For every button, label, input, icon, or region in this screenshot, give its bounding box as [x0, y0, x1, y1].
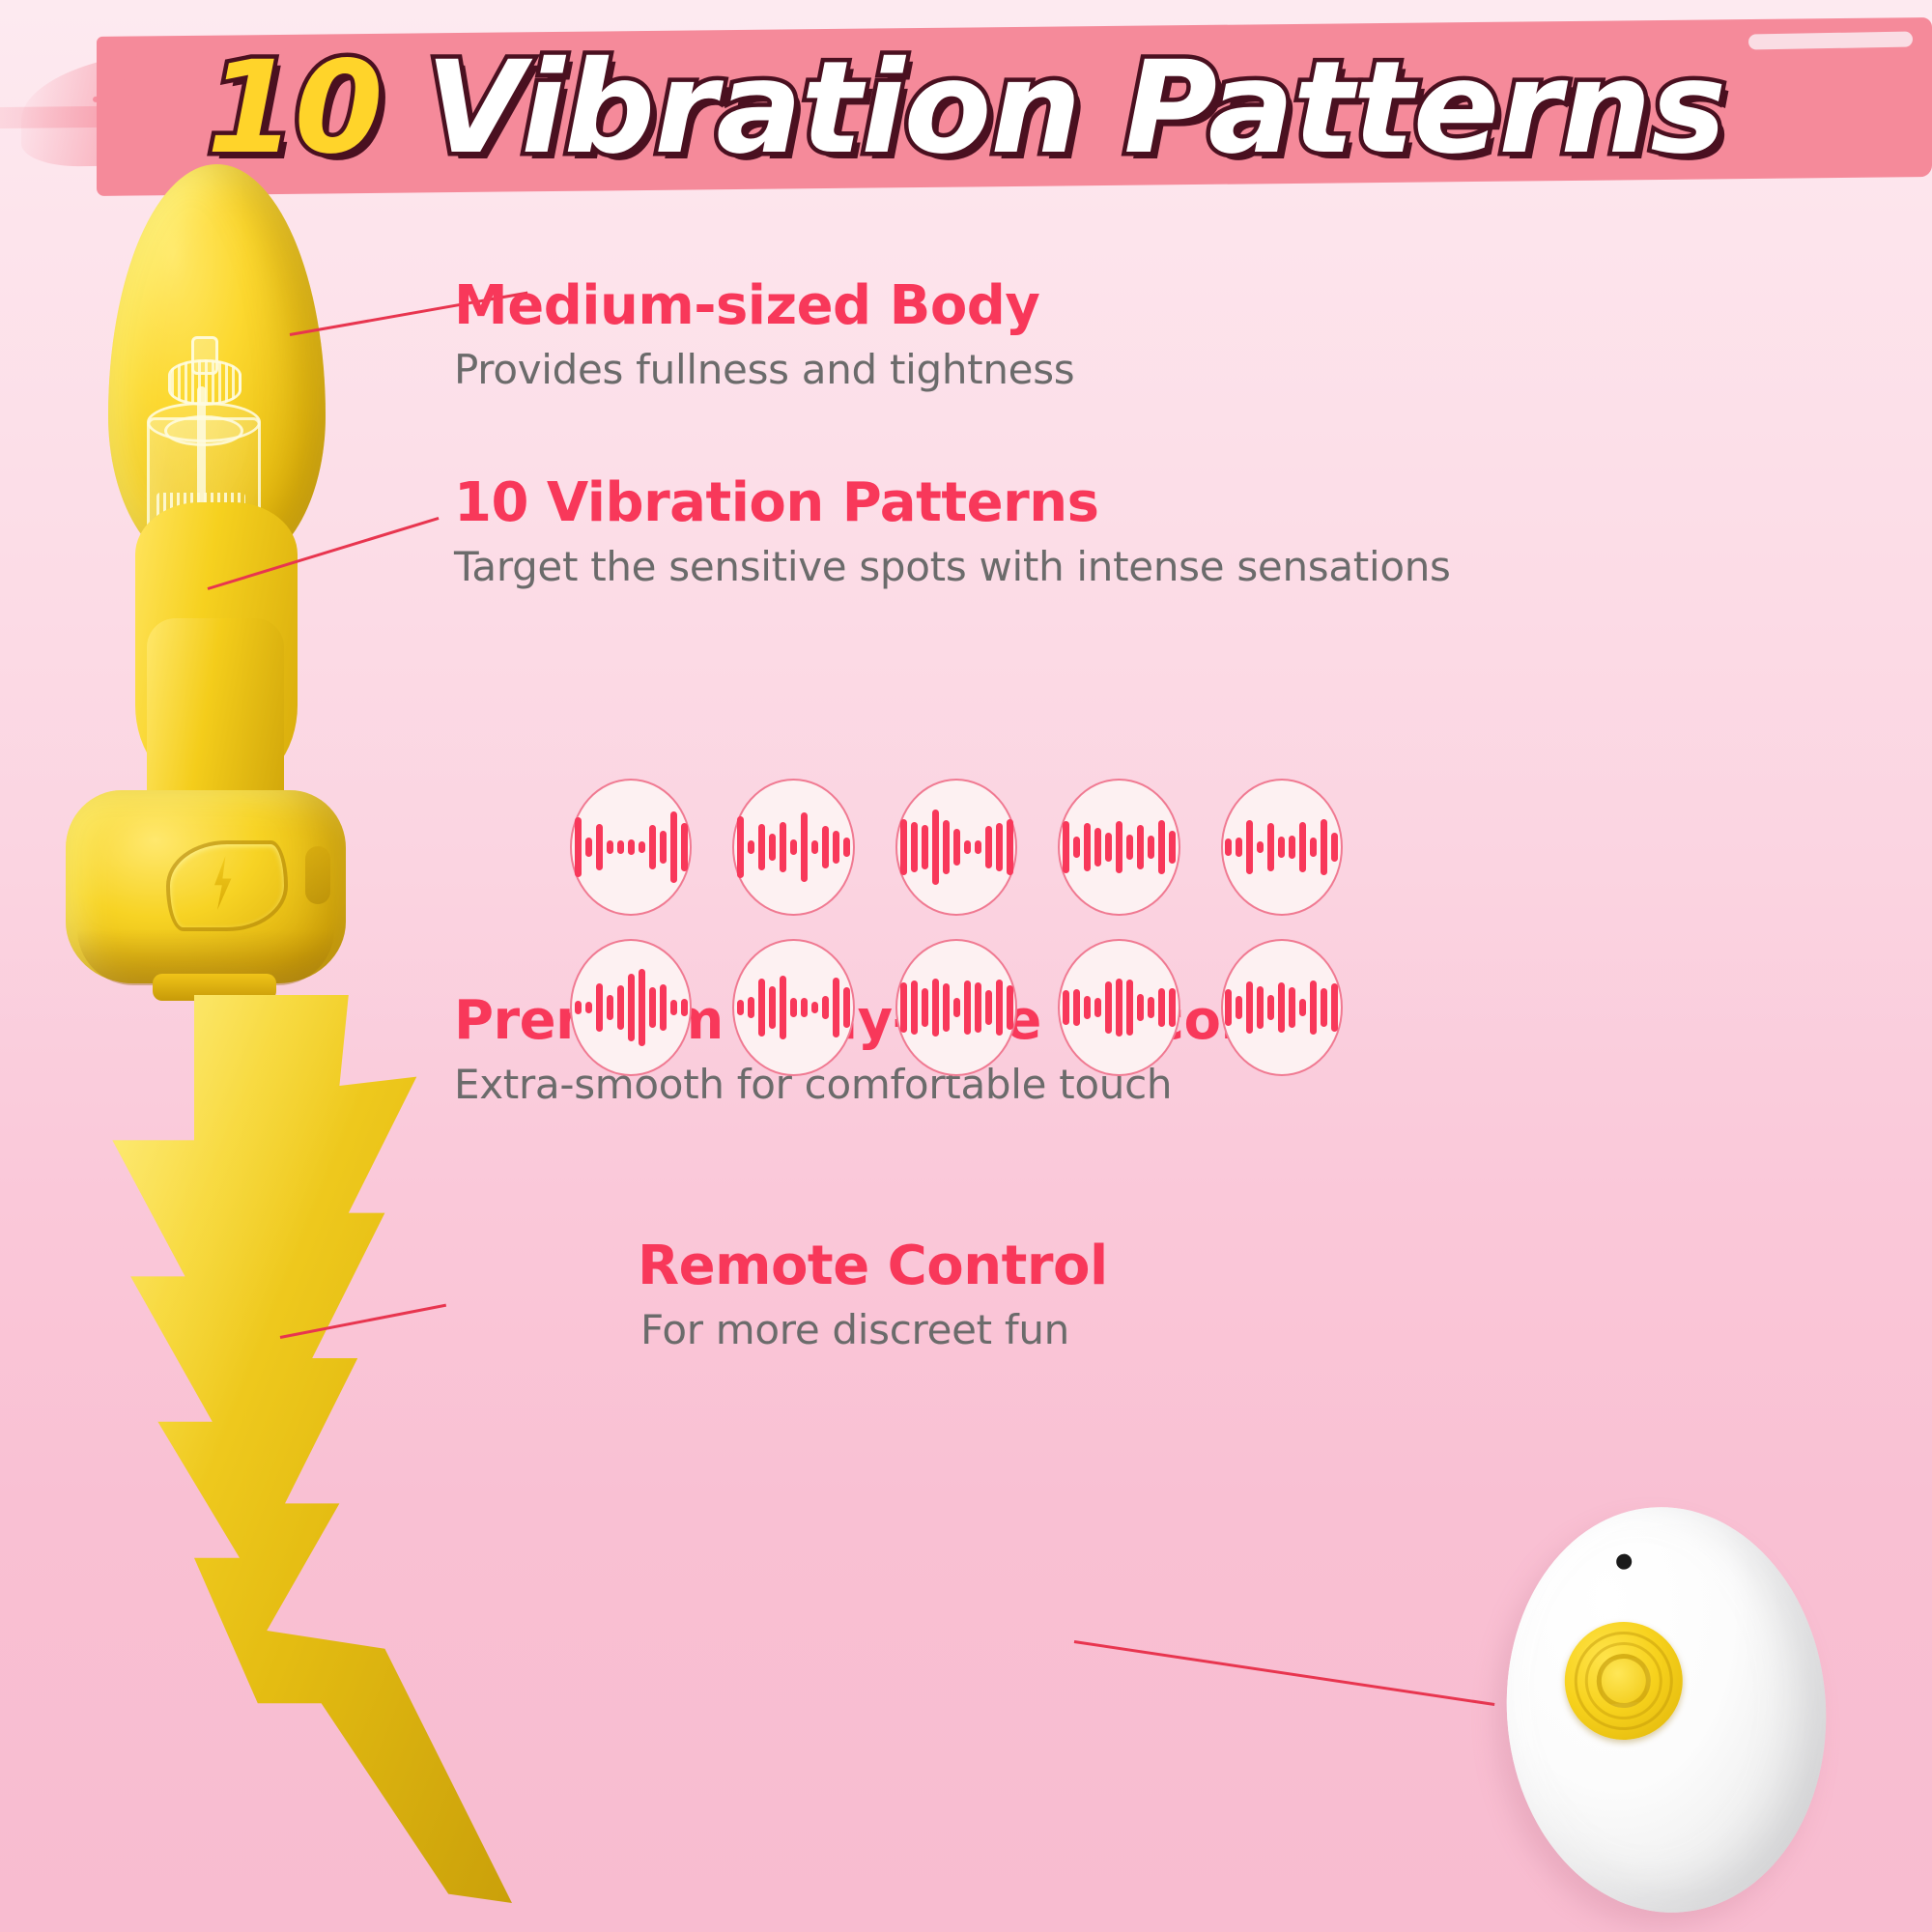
waveform-bar	[780, 976, 786, 1039]
waveform-bar	[748, 997, 754, 1018]
waveform-bar	[1278, 982, 1285, 1033]
waveform-bar	[617, 840, 624, 854]
waveform-bar	[943, 983, 950, 1032]
waveform-bar	[1246, 820, 1253, 874]
vibration-pattern-icon	[1221, 779, 1343, 916]
waveform-bar	[628, 974, 635, 1041]
vibration-pattern-icon	[895, 939, 1017, 1076]
waveform-bar	[811, 840, 818, 854]
waveform-bar	[911, 822, 918, 872]
waveform-bar	[1116, 821, 1122, 873]
waveform-bar	[1267, 823, 1274, 871]
waveform-bar	[1126, 835, 1133, 860]
waveform-bar	[790, 998, 797, 1017]
waveform-bar	[1158, 988, 1165, 1027]
waveform-bar	[1225, 989, 1232, 1026]
waveform-bar	[649, 825, 656, 869]
waveform-bar	[596, 824, 603, 870]
waveform-icon	[1063, 801, 1176, 894]
waveform-bar	[1094, 998, 1101, 1017]
waveform-bar	[790, 839, 797, 855]
waveform-bar	[1289, 987, 1295, 1028]
feature-medium-sized-body: Medium-sized Body Provides fullness and …	[454, 278, 1074, 392]
waveform-bar	[922, 825, 928, 869]
waveform-bar	[1094, 828, 1101, 867]
waveform-bar	[1257, 841, 1264, 853]
waveform-bar	[1007, 985, 1013, 1030]
waveform-bar	[780, 822, 786, 872]
waveform-bar	[769, 986, 776, 1029]
waveform-bar	[758, 979, 765, 1037]
waveform-bar	[1169, 831, 1176, 864]
vibration-pattern-row	[570, 939, 1343, 1076]
leader-line-remote	[1074, 1640, 1495, 1706]
waveform-bar	[628, 839, 635, 855]
waveform-bar	[1321, 819, 1327, 875]
waveform-bar	[1116, 979, 1122, 1037]
waveform-bar	[1236, 996, 1242, 1019]
waveform-bar	[843, 987, 850, 1028]
waveform-bar	[670, 1000, 677, 1015]
waveform-bar	[953, 829, 960, 866]
waveform-bar	[585, 1002, 592, 1013]
waveform-bar	[1158, 820, 1165, 874]
page-title: 10 Vibration Patterns	[0, 44, 1932, 172]
waveform-bar	[975, 840, 981, 854]
waveform-bar	[1007, 819, 1013, 875]
waveform-bar	[964, 980, 971, 1035]
side-button[interactable]	[305, 846, 330, 904]
waveform-bar	[1331, 983, 1338, 1032]
waveform-bar	[1278, 837, 1285, 858]
vibration-pattern-grid	[570, 779, 1343, 1117]
waveform-bar	[670, 811, 677, 883]
waveform-bar	[833, 978, 839, 1037]
waveform-bar	[639, 841, 645, 853]
waveform-bar	[639, 969, 645, 1046]
waveform-bar	[900, 819, 907, 875]
waveform-icon	[900, 961, 1013, 1054]
waveform-bar	[1073, 989, 1080, 1026]
feature-title: Remote Control	[638, 1238, 1072, 1295]
waveform-bar	[617, 985, 624, 1030]
feature-subtitle: Provides fullness and tightness	[454, 347, 1074, 392]
waveform-bar	[1267, 995, 1274, 1020]
waveform-bar	[1148, 997, 1154, 1018]
waveform-icon	[575, 801, 688, 894]
waveform-bar	[1137, 994, 1144, 1021]
waveform-bar	[953, 998, 960, 1017]
title-number: 10	[207, 34, 383, 183]
waveform-bar	[1105, 833, 1112, 862]
vibration-pattern-icon	[570, 939, 692, 1076]
waveform-bar	[660, 984, 667, 1031]
waveform-bar	[1257, 986, 1264, 1029]
waveform-bar	[996, 980, 1003, 1036]
waveform-bar	[964, 840, 971, 854]
vibration-pattern-icon	[1221, 939, 1343, 1076]
waveform-bar	[596, 983, 603, 1032]
feature-subtitle: For more discreet fun	[638, 1307, 1072, 1352]
vibration-pattern-icon	[1058, 779, 1179, 916]
waveform-bar	[1073, 837, 1080, 858]
waveform-bar	[681, 823, 688, 871]
waveform-bar	[985, 826, 992, 868]
vibration-pattern-icon	[570, 779, 692, 916]
infographic-canvas: 10 Vibration Patterns Medium-sized Body	[0, 0, 1932, 1932]
waveform-bar	[1063, 821, 1069, 873]
vibration-pattern-icon	[1058, 939, 1179, 1076]
vibration-pattern-icon	[732, 779, 854, 916]
waveform-bar	[811, 1002, 818, 1013]
waveform-bar	[843, 838, 850, 857]
waveform-bar	[822, 826, 829, 868]
vibration-pattern-icon	[895, 779, 1017, 916]
waveform-bar	[996, 823, 1003, 871]
waveform-bar	[607, 995, 613, 1020]
waveform-bar	[649, 987, 656, 1028]
waveform-bar	[575, 817, 582, 877]
waveform-icon	[737, 801, 850, 894]
waveform-bar	[660, 831, 667, 864]
waveform-bar	[1063, 990, 1069, 1025]
waveform-bar	[1126, 980, 1133, 1036]
waveform-bar	[1246, 981, 1253, 1034]
waveform-bar	[1289, 836, 1295, 859]
waveform-icon	[737, 961, 850, 1054]
waveform-bar	[822, 996, 829, 1019]
waveform-bar	[833, 831, 839, 864]
waveform-bar	[1321, 988, 1327, 1027]
feature-title: 10 Vibration Patterns	[454, 475, 1451, 532]
waveform-bar	[607, 840, 613, 854]
waveform-bar	[975, 982, 981, 1033]
waveform-bar	[748, 840, 754, 854]
waveform-bar	[1236, 838, 1242, 857]
waveform-bar	[911, 980, 918, 1035]
feature-subtitle: Target the sensitive spots with intense …	[454, 544, 1451, 589]
waveform-bar	[1137, 825, 1144, 869]
waveform-bar	[1084, 823, 1091, 871]
vibration-pattern-row	[570, 779, 1343, 916]
waveform-bar	[1225, 838, 1232, 856]
waveform-bar	[1105, 981, 1112, 1034]
waveform-icon	[575, 961, 688, 1054]
lightning-bolt-tail	[58, 995, 512, 1903]
waveform-bar	[801, 998, 808, 1017]
waveform-bar	[1331, 833, 1338, 862]
feature-ten-vibration-patterns: 10 Vibration Patterns Target the sensiti…	[454, 475, 1451, 589]
waveform-bar	[943, 820, 950, 874]
waveform-bar	[985, 990, 992, 1025]
waveform-bar	[758, 824, 765, 870]
feature-remote-control: Remote Control For more discreet fun	[638, 1238, 1072, 1352]
remote-control-device[interactable]	[1493, 1496, 1839, 1923]
waveform-bar	[932, 810, 939, 885]
vibration-pattern-icon	[732, 939, 854, 1076]
waveform-bar	[681, 999, 688, 1016]
waveform-icon	[900, 801, 1013, 894]
waveform-bar	[900, 982, 907, 1033]
waveform-bar	[1148, 836, 1154, 859]
waveform-bar	[801, 812, 808, 882]
remote-power-button[interactable]	[1561, 1618, 1687, 1744]
waveform-icon	[1063, 961, 1176, 1054]
waveform-bar	[737, 816, 744, 878]
waveform-bar	[737, 1000, 744, 1015]
waveform-bar	[769, 834, 776, 861]
waveform-bar	[922, 988, 928, 1027]
waveform-bar	[575, 1001, 582, 1014]
waveform-bar	[1084, 996, 1091, 1019]
feature-title: Medium-sized Body	[454, 278, 1074, 335]
waveform-icon	[1225, 961, 1338, 1054]
waveform-bar	[1299, 999, 1306, 1016]
waveform-bar	[1169, 988, 1176, 1027]
indicator-led-icon	[1616, 1553, 1633, 1570]
waveform-bar	[1310, 838, 1317, 857]
waveform-bar	[1310, 980, 1317, 1035]
title-rest: Vibration Patterns	[383, 34, 1725, 183]
waveform-icon	[1225, 801, 1338, 894]
waveform-bar	[1299, 822, 1306, 872]
waveform-bar	[932, 979, 939, 1037]
waveform-bar	[585, 838, 592, 857]
